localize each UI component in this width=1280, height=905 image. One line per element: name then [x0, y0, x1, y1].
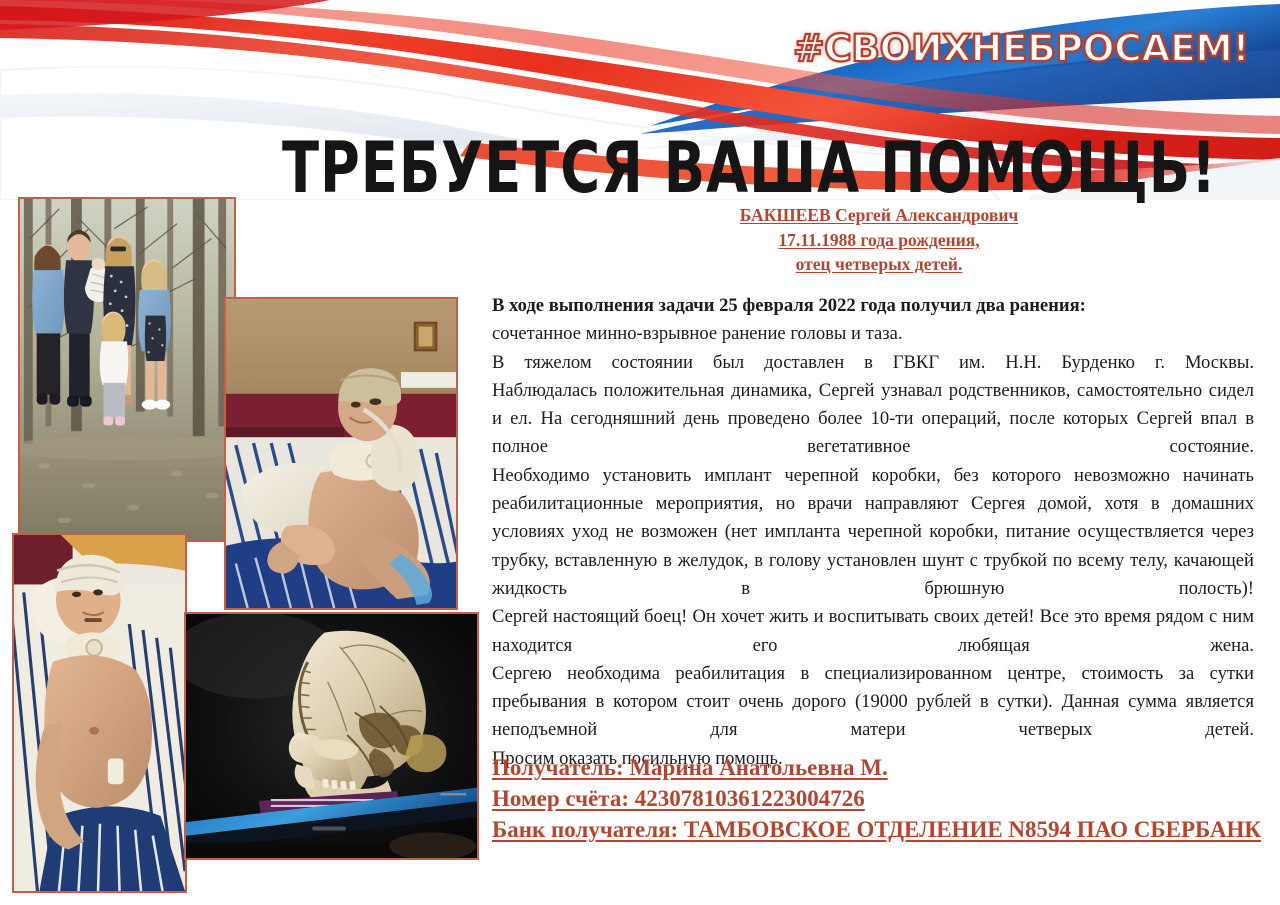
page-title: ТРЕБУЕТСЯ ВАША ПОМОЩЬ! — [282, 132, 1217, 207]
story-lead-colon: : — [1080, 295, 1086, 316]
family-photo — [18, 197, 236, 542]
family-photo-image — [20, 199, 234, 540]
figure-small-girl — [100, 312, 129, 426]
hashtag-slogan: #СВОИХНЕБРОСАЕМ! — [793, 27, 1249, 70]
story-lead-bold: В ходе выполнения задачи 25 февраля 2022… — [492, 295, 1080, 316]
subject-name: БАКШЕЕВ Сергей Александрович — [740, 203, 1019, 228]
tracheostomy-tube — [86, 640, 102, 656]
payment-bank[interactable]: Банк получателя: ТАМБОВСКОЕ ОТДЕЛЕНИЕ N8… — [492, 817, 1261, 842]
subject-role: отец четверых детей. — [796, 252, 963, 277]
story-para-5: Сергею необходима реабилитация в специал… — [492, 660, 1254, 745]
story-para-1: В тяжелом состоянии был доставлен в ГВКГ… — [492, 349, 1254, 377]
family-photo-illustration — [20, 199, 234, 540]
story-para-4: Сергей настоящий боец! Он хочет жить и в… — [492, 603, 1254, 660]
abdominal-dressing — [108, 758, 124, 784]
story-para-3: Необходимо установить имплант черепной к… — [492, 462, 1254, 603]
hospital-bed-photo-2-image — [14, 535, 185, 891]
payment-account-number[interactable]: Номер счёта: 42307810361223004726 — [492, 786, 865, 811]
hospital-bed-photo-1 — [224, 297, 458, 610]
hospital-bed-photo-1-image — [226, 299, 456, 608]
story-line2: сочетанное минно-взрывное ранение головы… — [492, 320, 1254, 348]
ct-skull-scan-image — [186, 614, 477, 858]
monitor-brand-label — [312, 827, 346, 831]
figure-teen-left — [32, 244, 65, 404]
ct-skull-scan-photo — [184, 612, 479, 860]
poster-root: #СВОИХНЕБРОСАЕМ! ТРЕБУЕТСЯ ВАША ПОМОЩЬ! … — [0, 0, 1280, 905]
payment-details: Получатель: Марина Анатольевна М. Номер … — [492, 752, 1262, 845]
story-text: В ходе выполнения задачи 25 февраля 2022… — [492, 292, 1254, 773]
payment-recipient[interactable]: Получатель: Марина Анатольевна М. — [492, 755, 888, 780]
hospital-bed-illustration — [14, 535, 185, 891]
story-lead: В ходе выполнения задачи 25 февраля 2022… — [492, 292, 1254, 320]
hospital-room-illustration — [226, 299, 456, 608]
hospital-bed-photo-2 — [12, 533, 187, 893]
story-para-2: Наблюдалась положительная динамика, Серг… — [492, 377, 1254, 462]
ct-monitor-illustration — [186, 614, 477, 858]
subject-birth: 17.11.1988 года рождения, — [778, 228, 979, 253]
subject-block: БАКШЕЕВ Сергей Александрович 17.11.1988 … — [489, 203, 1269, 277]
